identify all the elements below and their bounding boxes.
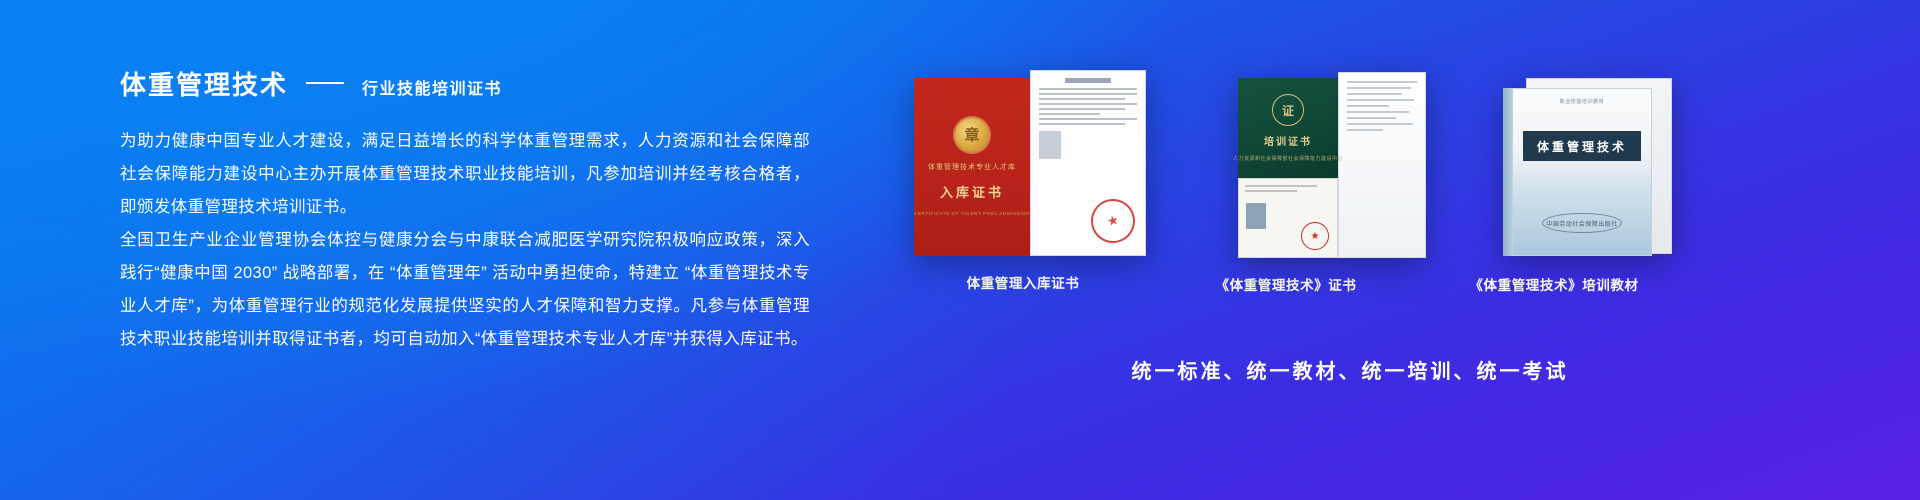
text-line <box>1039 88 1137 90</box>
text-line <box>1347 123 1413 125</box>
page-subtitle: 行业技能培训证书 <box>362 75 502 99</box>
certificate-row: ★ 章 体重管理技术专业人才库 入库证书 CERTIFICATE OF TALE… <box>900 78 1800 278</box>
cover-org-line: 体重管理技术专业人才库 <box>928 162 1016 172</box>
cover-title: 入库证书 <box>940 182 1004 201</box>
certificate-item-3: 职业技能培训教材 体重管理技术 中国劳动社会保障出版社 《体重管理技术》培训教材 <box>1426 78 1682 294</box>
book-series-line: 职业技能培训教材 <box>1560 98 1605 105</box>
certificate-image-training: 证 培训证书 人力资源和社会保障部社会保障能力建设中心 ★ <box>1238 78 1426 258</box>
text-line <box>1347 117 1396 119</box>
promo-banner: 体重管理技术 行业技能培训证书 为助力健康中国专业人才建设，满足日益增长的科学体… <box>0 0 1920 500</box>
cover-english-line: CERTIFICATE OF TALENT POOL ADMISSION <box>914 211 1030 216</box>
tagline: 统一标准、统一教材、统一培训、统一考试 <box>900 355 1800 384</box>
text-line <box>1039 108 1125 110</box>
certificate-caption-3: 《体重管理技术》培训教材 <box>1469 274 1638 294</box>
page-title: 体重管理技术 <box>120 72 288 98</box>
body-paragraph-1: 为助力健康中国专业人才建设，满足日益增长的科学体重管理需求，人力资源和社会保障部… <box>120 125 810 224</box>
red-seal-stamp: ★ <box>1087 195 1139 247</box>
title-divider-rule <box>306 82 344 84</box>
certificate-caption-2: 《体重管理技术》证书 <box>1216 274 1357 294</box>
photo-placeholder <box>1039 131 1061 159</box>
certificate-item-1: ★ 章 体重管理技术专业人才库 入库证书 CERTIFICATE OF TALE… <box>900 78 1146 292</box>
text-line <box>1347 129 1383 131</box>
text-line <box>1039 113 1100 115</box>
certificate-caption-1: 体重管理入库证书 <box>967 272 1080 292</box>
certificate-red-cover: 章 体重管理技术专业人才库 入库证书 CERTIFICATE OF TALENT… <box>914 78 1030 256</box>
certificate-badge-icon: 证 <box>1272 94 1304 126</box>
certificate-inner-page: ★ <box>1030 70 1146 256</box>
certificate-side-page <box>1338 72 1426 258</box>
certificate-photo-page: ★ <box>1238 178 1338 258</box>
textbook-image: 职业技能培训教材 体重管理技术 中国劳动社会保障出版社 <box>1512 78 1682 258</box>
green-cover-org: 人力资源和社会保障部社会保障能力建设中心 <box>1233 155 1343 162</box>
id-photo-placeholder <box>1246 203 1266 229</box>
text-column: 体重管理技术 行业技能培训证书 为助力健康中国专业人才建设，满足日益增长的科学体… <box>120 72 810 356</box>
heading-row: 体重管理技术 行业技能培训证书 <box>120 72 810 99</box>
certificate-item-2: 证 培训证书 人力资源和社会保障部社会保障能力建设中心 ★ 《体重管理技术》证书 <box>1146 78 1426 294</box>
book-publisher: 中国劳动社会保障出版社 <box>1542 213 1622 233</box>
green-cover-title: 培训证书 <box>1264 133 1312 148</box>
text-line <box>1039 98 1125 100</box>
text-line <box>1347 81 1417 83</box>
text-line <box>1347 93 1402 95</box>
text-line <box>1039 123 1125 125</box>
text-line <box>1347 105 1389 107</box>
book-front-cover: 职业技能培训教材 体重管理技术 中国劳动社会保障出版社 <box>1512 88 1652 256</box>
text-line <box>1039 103 1137 105</box>
body-paragraph-2: 全国卫生产业企业管理协会体控与健康分会与中康联合减肥医学研究院积极响应政策，深入… <box>120 224 810 356</box>
text-line <box>1347 99 1414 101</box>
text-line <box>1347 111 1409 113</box>
red-seal-stamp: ★ <box>1301 222 1329 250</box>
certificate-green-cover: 证 培训证书 人力资源和社会保障部社会保障能力建设中心 <box>1238 78 1338 178</box>
inner-page-title-bar <box>1065 78 1110 83</box>
certificate-image-admission: ★ 章 体重管理技术专业人才库 入库证书 CERTIFICATE OF TALE… <box>914 78 1146 256</box>
text-line <box>1039 118 1137 120</box>
text-line <box>1245 185 1317 187</box>
text-line <box>1347 87 1411 89</box>
gold-seal-icon: 章 <box>955 118 989 152</box>
book-title: 体重管理技术 <box>1523 131 1641 161</box>
text-line <box>1245 190 1297 192</box>
text-line <box>1039 93 1137 95</box>
